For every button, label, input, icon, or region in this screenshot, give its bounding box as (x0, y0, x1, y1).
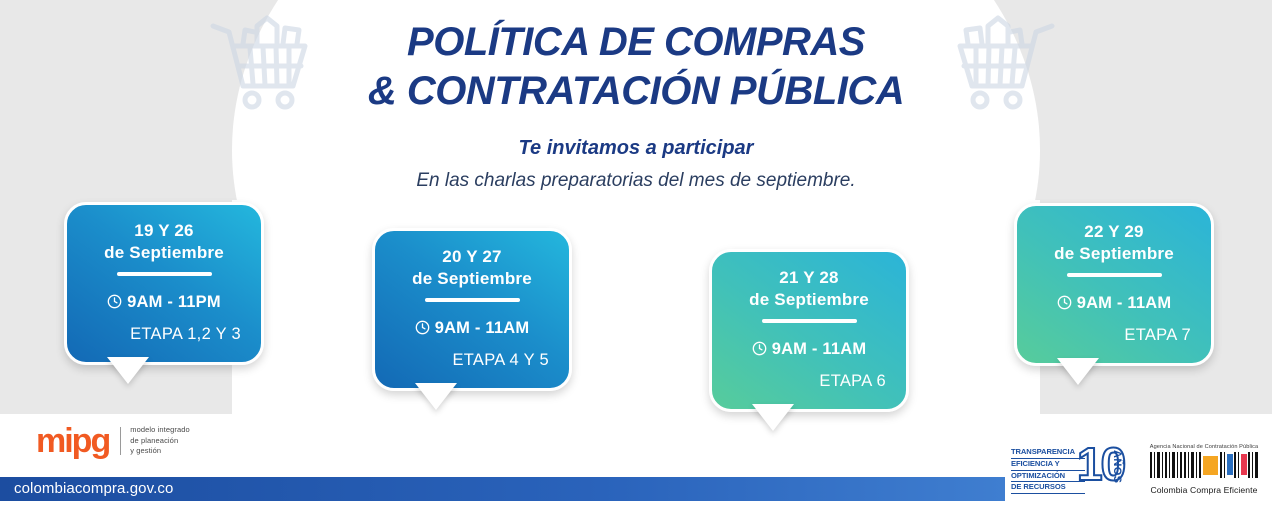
card-divider (117, 272, 212, 276)
anniversary-line3: OPTIMIZACIÓN (1011, 471, 1085, 483)
cce-brand-name: Colombia Compra Eficiente (1148, 485, 1260, 495)
card-stage: ETAPA 4 Y 5 (389, 351, 555, 370)
clock-icon (1057, 295, 1072, 315)
schedule-card[interactable]: 20 Y 27 de Septiembre 9AM - 11AM ETAPA 4… (372, 228, 572, 391)
subtitle-regular: En las charlas preparatorias del mes de … (0, 170, 1272, 192)
card-divider (762, 319, 857, 323)
colombia-compra-eficiente-logo: Agencia Nacional de Contratación Pública (1148, 444, 1260, 494)
clock-icon (107, 294, 122, 314)
anniversary-line4: DE RECURSOS (1011, 482, 1085, 494)
card-month: de Septiembre (104, 243, 224, 262)
schedule-card[interactable]: 19 Y 26 de Septiembre 9AM - 11PM ETAPA 1… (64, 202, 264, 365)
clock-icon (752, 341, 767, 361)
anniversary-line2: EFICIENCIA Y (1011, 459, 1085, 471)
card-month: de Septiembre (749, 290, 869, 309)
card-time: 9AM - 11PM (127, 293, 221, 311)
card-days: 20 Y 27 (442, 247, 501, 266)
card-tail (419, 386, 453, 408)
card-month: de Septiembre (1054, 244, 1174, 263)
mipg-divider (120, 427, 121, 455)
card-tail (756, 407, 790, 429)
clock-icon (415, 320, 430, 340)
page-title: POLÍTICA DE COMPRAS & CONTRATACIÓN PÚBLI… (0, 18, 1272, 116)
barcode-icon (1148, 452, 1260, 483)
page-title-line1: POLÍTICA DE COMPRAS (407, 20, 865, 64)
poster-root: POLÍTICA DE COMPRAS & CONTRATACIÓN PÚBLI… (0, 0, 1272, 507)
cce-agency-name: Agencia Nacional de Contratación Pública (1148, 444, 1260, 450)
mipg-tagline-line3: y gestión (130, 446, 190, 457)
card-divider (425, 298, 520, 302)
mipg-logo: mipg modelo integrado de planeación y ge… (36, 424, 190, 458)
page-title-line2: & CONTRATACIÓN PÚBLICA (0, 67, 1272, 116)
mipg-wordmark: mipg (36, 424, 109, 458)
anniversary-line1: TRANSPARENCIA (1011, 447, 1085, 459)
card-days: 19 Y 26 (134, 221, 193, 240)
card-days: 21 Y 28 (779, 268, 838, 287)
subtitle-bold: Te invitamos a participar (0, 137, 1272, 160)
mipg-tagline-line1: modelo integrado (130, 425, 190, 436)
card-stage: ETAPA 6 (726, 372, 892, 391)
card-tail (111, 360, 145, 382)
card-time: 9AM - 11AM (772, 340, 867, 358)
card-time: 9AM - 11AM (1077, 294, 1172, 312)
card-divider (1067, 273, 1162, 277)
mipg-tagline: modelo integrado de planeación y gestión (130, 425, 190, 458)
card-days: 22 Y 29 (1084, 222, 1143, 241)
card-stage: ETAPA 1,2 Y 3 (81, 325, 247, 344)
card-month: de Septiembre (412, 269, 532, 288)
anniversary-logo: TRANSPARENCIA EFICIENCIA Y OPTIMIZACIÓN … (1011, 444, 1137, 494)
card-stage: ETAPA 7 (1031, 326, 1197, 345)
website-url[interactable]: colombiacompra.gov.co (14, 480, 173, 497)
anniversary-values: TRANSPARENCIA EFICIENCIA Y OPTIMIZACIÓN … (1011, 447, 1085, 494)
schedule-card[interactable]: 22 Y 29 de Septiembre 9AM - 11AM ETAPA 7 (1014, 203, 1214, 366)
mipg-tagline-line2: de planeación (130, 436, 190, 447)
card-time: 9AM - 11AM (435, 319, 530, 337)
anniversary-word: AÑOS (1111, 450, 1123, 483)
card-tail (1061, 361, 1095, 383)
schedule-card[interactable]: 21 Y 28 de Septiembre 9AM - 11AM ETAPA 6 (709, 249, 909, 412)
